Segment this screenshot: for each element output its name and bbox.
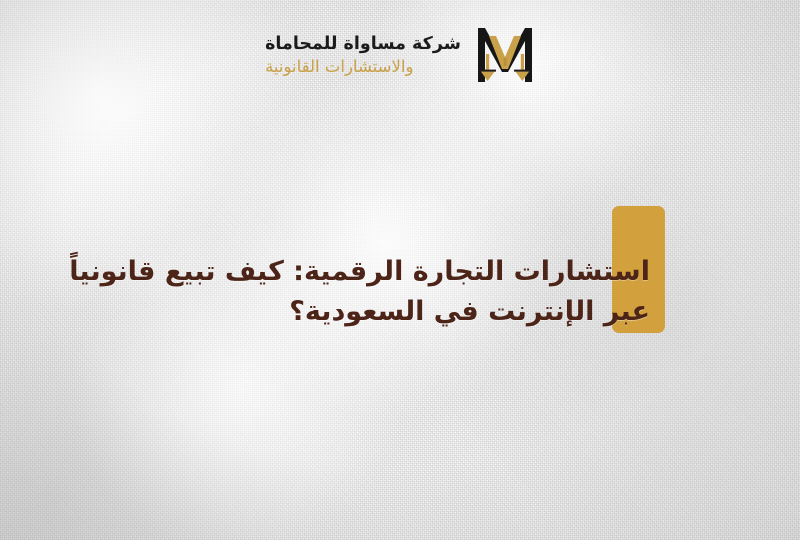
- banner-canvas: شركة مساواة للمحاماة والاستشارات القانون…: [0, 0, 800, 540]
- page-title: استشارات التجارة الرقمية: كيف تبيع قانون…: [60, 252, 650, 332]
- scales-of-justice-m-monogram-icon: [475, 24, 535, 86]
- page-title-line-1: استشارات التجارة الرقمية: كيف تبيع قانون…: [60, 252, 650, 292]
- brand-name-group: شركة مساواة للمحاماة والاستشارات القانون…: [265, 35, 461, 75]
- page-title-line-2: عبر الإنترنت في السعودية؟: [60, 292, 650, 332]
- brand-name-primary: شركة مساواة للمحاماة: [265, 35, 461, 53]
- brand-logo: شركة مساواة للمحاماة والاستشارات القانون…: [0, 24, 800, 86]
- brand-name-secondary: والاستشارات القانونية: [265, 58, 413, 75]
